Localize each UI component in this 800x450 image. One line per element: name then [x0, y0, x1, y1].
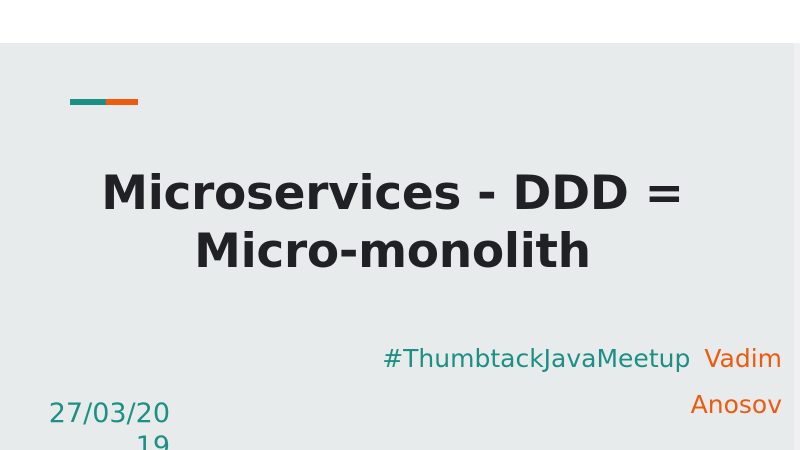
- slide-meta-right: #ThumbtackJavaMeetupVadim Anosov: [380, 336, 782, 429]
- slide-date: 27/03/2019: [32, 398, 170, 450]
- presentation-slide: Microservices - DDD = Micro-monolith #Th…: [0, 0, 800, 450]
- accent-rule: [70, 99, 138, 105]
- slide-title: Microservices - DDD = Micro-monolith: [60, 165, 725, 282]
- top-white-band: [0, 0, 800, 43]
- accent-rule-teal-segment: [70, 99, 106, 105]
- speaker-name: Vadim Anosov: [691, 344, 782, 419]
- accent-rule-orange-segment: [106, 99, 138, 105]
- slide-title-line-2: Micro-monolith: [60, 223, 725, 281]
- slide-right-edge-strip: [794, 43, 800, 450]
- event-hashtag: #ThumbtackJavaMeetup: [382, 344, 690, 373]
- slide-title-line-1: Microservices - DDD =: [60, 165, 725, 223]
